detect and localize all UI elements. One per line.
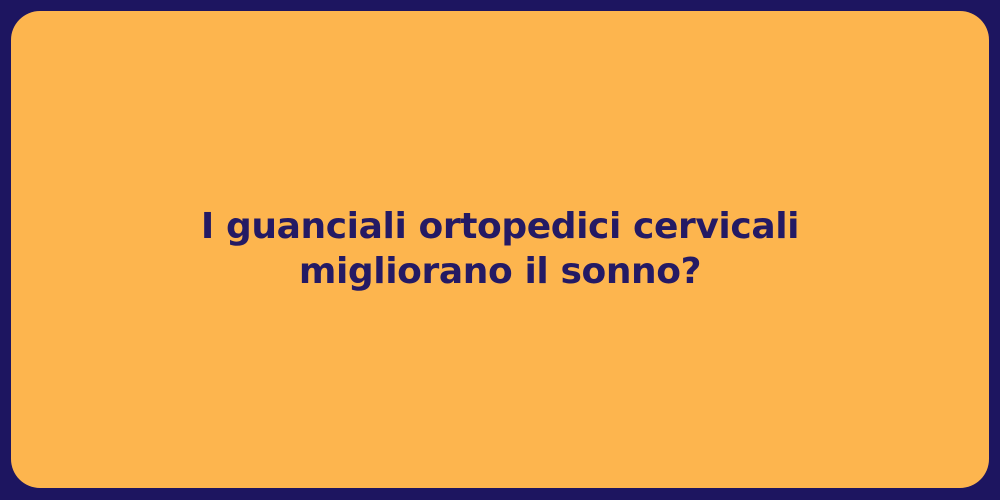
question-card: I guanciali ortopedici cervicali miglior… — [11, 11, 989, 488]
page-frame: I guanciali ortopedici cervicali miglior… — [0, 0, 1000, 500]
question-heading: I guanciali ortopedici cervicali miglior… — [90, 204, 910, 294]
